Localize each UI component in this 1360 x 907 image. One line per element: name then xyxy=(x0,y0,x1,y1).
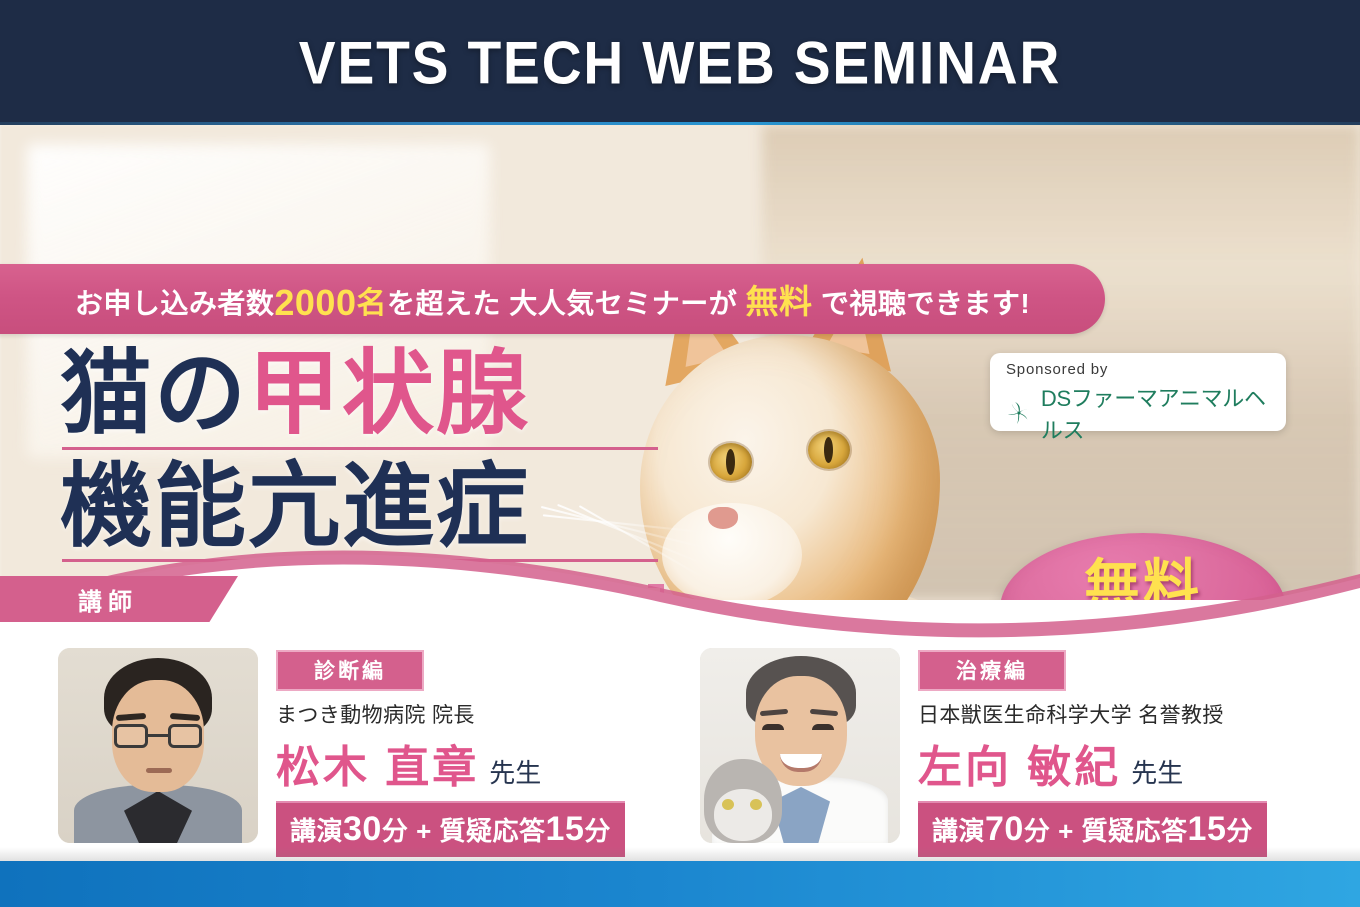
header-bar: VETS TECH WEB SEMINAR xyxy=(0,0,1360,125)
qa-minutes: 15 xyxy=(546,810,585,848)
seminar-poster: VETS TECH WEB SEMINAR お申し込み者数2000名を超えた 大… xyxy=(0,0,1360,907)
speaker-name-row: 左向 敏紀 先生 xyxy=(918,731,1267,795)
page-title: VETS TECH WEB SEMINAR xyxy=(54,28,1305,97)
speaker-info: 診断編 まつき動物病院 院長 松木 直章 先生 講演30分 + 質疑応答15分 xyxy=(276,648,625,857)
sponsor-name: DSファーマアニマルヘルス xyxy=(1041,381,1272,445)
footer-shadow xyxy=(0,847,1360,861)
announce-part3: で視聴できます! xyxy=(821,288,1030,319)
speaker-info: 治療編 日本獣医生命科学大学 名誉教授 左向 敏紀 先生 講演70分 + 質疑応… xyxy=(918,648,1267,857)
announce-part1: お申し込み者数 xyxy=(75,288,275,319)
qa-prefix: 質疑応答 xyxy=(1082,816,1188,846)
title-line-1: 猫の甲状腺 xyxy=(60,347,680,443)
footer-bar xyxy=(0,861,1360,907)
title-line1-highlight: 甲状腺 xyxy=(248,343,530,445)
speaker-affiliation: まつき動物病院 院長 xyxy=(276,699,625,729)
lecturer-tag-label: 講師 xyxy=(78,582,138,617)
speaker-card: 治療編 日本獣医生命科学大学 名誉教授 左向 敏紀 先生 講演70分 + 質疑応… xyxy=(700,648,1267,857)
speaker-chip: 診断編 xyxy=(276,650,424,691)
speaker-honorific: 先生 xyxy=(489,753,541,790)
lecturer-tag: 講師 xyxy=(0,576,238,622)
speaker-chip: 治療編 xyxy=(918,650,1066,691)
announce-part2: を超えた 大人気セミナーが xyxy=(387,288,737,319)
duration-plus: + xyxy=(416,816,432,846)
title-rule-1 xyxy=(62,447,658,450)
green-pinwheel-flower-icon xyxy=(1006,398,1032,428)
qa-unit: 分 xyxy=(1226,816,1253,846)
duration-prefix: 講演 xyxy=(290,816,343,846)
speaker-name-row: 松木 直章 先生 xyxy=(276,731,625,795)
cat-eye-right xyxy=(808,431,850,469)
duration-prefix: 講演 xyxy=(932,816,985,846)
title-line1-a: 猫の xyxy=(60,343,248,445)
cat-eye-left xyxy=(710,443,752,481)
qa-minutes: 15 xyxy=(1188,810,1227,848)
announce-count-unit: 名 xyxy=(356,287,387,320)
announce-free: 無料 xyxy=(746,283,813,320)
speaker-name: 左向 敏紀 xyxy=(918,731,1121,795)
speaker-honorific: 先生 xyxy=(1131,753,1183,790)
sponsor-row: DSファーマアニマルヘルス xyxy=(1006,381,1272,445)
duration-unit: 分 xyxy=(382,816,409,846)
portrait-cat-icon xyxy=(704,759,782,843)
duration-unit: 分 xyxy=(1024,816,1051,846)
announce-count: 2000 xyxy=(274,282,356,323)
speakers-section: 講師 診断編 まつき動物病院 院長 松木 直章 先生 xyxy=(0,600,1360,850)
speaker-affiliation: 日本獣医生命科学大学 名誉教授 xyxy=(918,699,1267,729)
speaker-portrait-with-cat-icon xyxy=(700,648,900,843)
speaker-portrait-glasses-icon xyxy=(58,648,258,843)
sponsor-card: Sponsored by DSファーマアニマルヘルス xyxy=(990,353,1286,431)
announcement-banner: お申し込み者数2000名を超えた 大人気セミナーが 無料 で視聴できます! xyxy=(0,264,1105,334)
qa-unit: 分 xyxy=(584,816,611,846)
duration-minutes: 70 xyxy=(985,810,1024,848)
duration-minutes: 30 xyxy=(343,810,382,848)
speaker-name: 松木 直章 xyxy=(276,731,479,795)
announcement-text: お申し込み者数2000名を超えた 大人気セミナーが 無料 で視聴できます! xyxy=(75,275,1030,324)
sponsor-label: Sponsored by xyxy=(1006,361,1272,378)
qa-prefix: 質疑応答 xyxy=(440,816,546,846)
speaker-card: 診断編 まつき動物病院 院長 松木 直章 先生 講演30分 + 質疑応答15分 xyxy=(58,648,625,857)
duration-plus: + xyxy=(1058,816,1074,846)
